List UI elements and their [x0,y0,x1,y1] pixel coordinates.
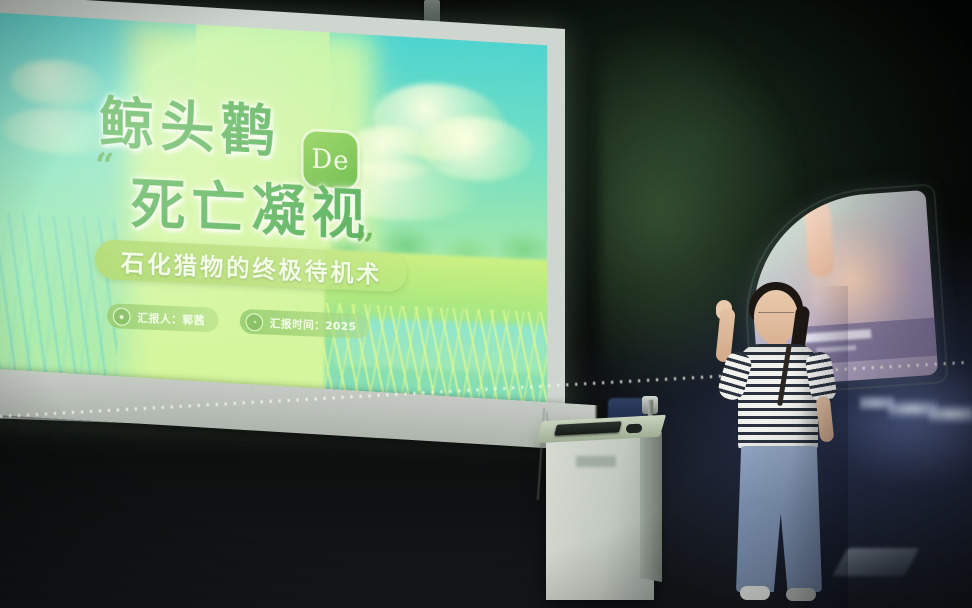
slide-meta-row: ● 汇报人：郭茜 ◔ 汇报时间：2025 [107,303,370,339]
person-icon: ● [113,307,131,326]
projected-slide: 鲸头鹳 De “ 死亡凝视 “ 石化猎物的终极待机术 ● 汇报人：郭茜 [0,12,547,413]
slide-meta-date: ◔ 汇报时间：2025 [240,309,370,339]
screenshot-root: 鲸头鹳 De “ 死亡凝视 “ 石化猎物的终极待机术 ● 汇报人：郭茜 [0,0,972,608]
presenter [718,286,848,608]
side-screen-finger [804,201,835,279]
slide-title-line-2: 死亡凝视 [131,159,371,250]
clock-icon: ◔ [246,313,263,331]
mouse[interactable] [626,424,642,434]
slide-meta-presenter-text: 汇报人：郭茜 [137,309,204,328]
slide-subtitle-text: 石化猎物的终极待机术 [121,243,382,289]
lectern-side-panel [640,428,662,582]
lectern [546,428,654,600]
stage-light-beam [928,404,972,424]
shoe [740,586,770,600]
slide-title-line-1: 鲸头鹳 [99,78,280,168]
shoe [786,588,816,601]
quote-close-icon: “ [355,208,374,248]
right-arm [816,395,835,442]
slide-text-layer: 鲸头鹳 De “ 死亡凝视 “ 石化猎物的终极待机术 ● 汇报人：郭茜 [0,12,547,413]
lectern-logo [576,456,616,467]
quote-open-icon: “ [95,146,114,187]
slide-meta-presenter: ● 汇报人：郭茜 [107,303,219,332]
glasses-icon [758,312,794,322]
slide-meta-date-text: 汇报时间：2025 [270,315,357,334]
projection-screen-frame: 鲸头鹳 De “ 死亡凝视 “ 石化猎物的终极待机术 ● 汇报人：郭茜 [0,0,565,439]
jeans [736,446,822,592]
